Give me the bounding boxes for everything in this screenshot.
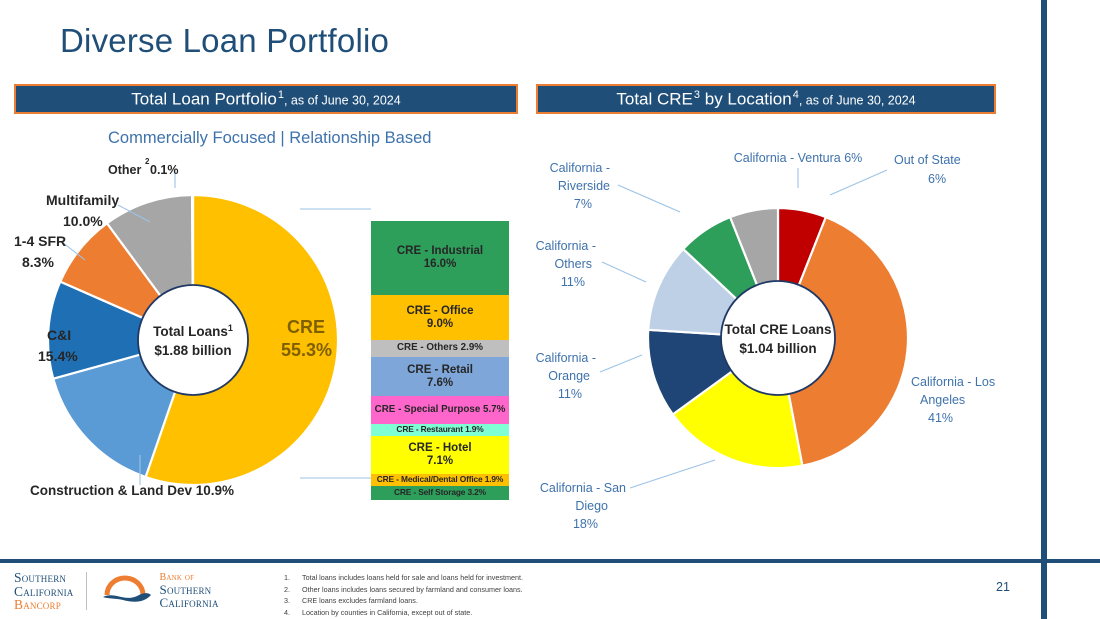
cre-legend-label: CRE - Office bbox=[406, 305, 473, 318]
label-ci-value: 15.4% bbox=[38, 348, 78, 364]
leader-out-of-state bbox=[830, 170, 887, 195]
scb-line3: Bancorp bbox=[14, 598, 74, 612]
leader-riverside bbox=[618, 185, 680, 212]
cre-legend-item[interactable]: CRE - Self Storage 3.2% bbox=[371, 486, 509, 500]
cre-legend-value: 9.0% bbox=[427, 318, 453, 331]
label-cre-value: 55.3% bbox=[281, 340, 332, 360]
footnote-row: 1.Total loans includes loans held for sa… bbox=[284, 572, 714, 584]
label-1-4-sfr-value: 8.3% bbox=[22, 254, 54, 270]
cre-legend-item[interactable]: CRE - Hotel7.1% bbox=[371, 436, 509, 474]
cre-legend-item[interactable]: CRE - Industrial16.0% bbox=[371, 221, 509, 295]
left-chart-subtitle: Commercially Focused | Relationship Base… bbox=[108, 129, 431, 148]
leader-others bbox=[602, 262, 646, 282]
label-out-of-state: Out of State bbox=[894, 153, 961, 167]
scb-line1: Southern bbox=[14, 571, 74, 585]
cre-legend-item[interactable]: CRE - Special Purpose 5.7% bbox=[371, 396, 509, 424]
page-number: 21 bbox=[996, 580, 1010, 594]
label-orange: California - bbox=[536, 351, 596, 365]
footnote-text: Other loans includes loans secured by fa… bbox=[302, 584, 523, 596]
cre-legend-label: CRE - Special Purpose 5.7% bbox=[375, 405, 506, 416]
label-san-diego: California - San bbox=[540, 481, 626, 495]
page-title: Diverse Loan Portfolio bbox=[60, 22, 389, 60]
label-riverside-2: Riverside bbox=[558, 179, 610, 193]
label-construction: Construction & Land Dev 10.9% bbox=[30, 483, 234, 498]
banner-total-loan-portfolio: Total Loan Portfolio1, as of June 30, 20… bbox=[14, 84, 518, 114]
cre-legend-label: CRE - Restaurant 1.9% bbox=[396, 425, 483, 434]
logo-group: Southern California Bancorp Bank of Sout… bbox=[14, 571, 219, 612]
cre-legend-value: 16.0% bbox=[424, 258, 457, 271]
wave-mark-icon bbox=[99, 571, 155, 611]
bank-of-southern-california-logo: Bank of Southern California bbox=[99, 571, 219, 611]
cre-legend-item[interactable]: CRE - Others 2.9% bbox=[371, 340, 509, 357]
footnote-row: 4.Location by counties in California, ex… bbox=[284, 607, 714, 619]
chart-cre-by-location: California - Ventura 6% Out of State 6% … bbox=[530, 140, 1000, 540]
label-riverside: California - bbox=[550, 161, 610, 175]
cre-legend-label: CRE - Others 2.9% bbox=[397, 343, 483, 354]
cre-legend-item[interactable]: CRE - Retail7.6% bbox=[371, 357, 509, 396]
label-others-value: 11% bbox=[561, 275, 585, 289]
cre-legend-value: 7.1% bbox=[427, 455, 453, 468]
label-other: Other bbox=[108, 163, 141, 177]
label-ci: C&I bbox=[47, 327, 71, 343]
label-los-angeles-2: Angeles bbox=[920, 393, 965, 407]
right-center-line1: Total CRE Loans bbox=[724, 322, 831, 337]
right-vertical-rule bbox=[1041, 0, 1047, 619]
left-center-line2: $1.88 billion bbox=[154, 343, 231, 358]
slide-footer: Southern California Bancorp Bank of Sout… bbox=[0, 563, 1100, 619]
footnote-number: 1. bbox=[284, 572, 302, 584]
footnotes-list: 1.Total loans includes loans held for sa… bbox=[284, 572, 714, 619]
leader-san-diego bbox=[630, 460, 715, 488]
right-center-line2: $1.04 billion bbox=[739, 341, 816, 356]
footnote-text: CRE loans excludes farmland loans. bbox=[302, 595, 418, 607]
cre-legend-item[interactable]: CRE - Office9.0% bbox=[371, 295, 509, 340]
banner-right-title-b: by Location bbox=[700, 89, 792, 108]
label-others-2: Others bbox=[554, 257, 592, 271]
southern-california-bancorp-logo: Southern California Bancorp bbox=[14, 571, 74, 612]
label-san-diego-value: 18% bbox=[573, 517, 598, 531]
right-donut-hole bbox=[721, 281, 835, 395]
left-center-line1: Total Loans1 bbox=[153, 323, 233, 339]
cre-legend-label: CRE - Self Storage 3.2% bbox=[394, 488, 486, 497]
label-riverside-value: 7% bbox=[574, 197, 592, 211]
slide-canvas: Diverse Loan Portfolio Total Loan Portfo… bbox=[0, 0, 1100, 619]
label-san-diego-2: Diego bbox=[575, 499, 608, 513]
label-orange-value: 11% bbox=[558, 387, 582, 401]
label-out-of-state-value: 6% bbox=[928, 172, 946, 186]
footnote-text: Total loans includes loans held for sale… bbox=[302, 572, 523, 584]
footnote-number: 4. bbox=[284, 607, 302, 619]
cre-legend-label: CRE - Retail bbox=[407, 364, 473, 377]
cre-legend-label: CRE - Hotel bbox=[408, 442, 471, 455]
label-others: California - bbox=[536, 239, 596, 253]
label-los-angeles: California - Los bbox=[911, 375, 995, 389]
label-orange-2: Orange bbox=[548, 369, 590, 383]
footnote-text: Location by counties in California, exce… bbox=[302, 607, 472, 619]
cre-legend-item[interactable]: CRE - Restaurant 1.9% bbox=[371, 424, 509, 436]
label-multifamily-value: 10.0% bbox=[63, 213, 103, 229]
label-multifamily: Multifamily bbox=[46, 192, 119, 208]
cre-composition-legend: CRE - Industrial16.0%CRE - Office9.0%CRE… bbox=[371, 221, 509, 500]
banner-total-cre-by-location: Total CRE3 by Location4, as of June 30, … bbox=[536, 84, 996, 114]
label-other-value: 0.1% bbox=[150, 163, 179, 177]
cre-legend-label: CRE - Medical/Dental Office 1.9% bbox=[377, 475, 503, 484]
logo-divider bbox=[86, 572, 87, 610]
label-los-angeles-value: 41% bbox=[928, 411, 953, 425]
banner-right-title-a: Total CRE bbox=[616, 89, 693, 108]
footnote-row: 3.CRE loans excludes farmland loans. bbox=[284, 595, 714, 607]
label-cre: CRE bbox=[287, 317, 325, 337]
banner-left-date: , as of June 30, 2024 bbox=[284, 93, 401, 107]
label-ventura: California - Ventura 6% bbox=[734, 151, 863, 165]
footnote-number: 3. bbox=[284, 595, 302, 607]
scb-line2: California bbox=[14, 585, 74, 599]
left-donut-hole bbox=[138, 285, 248, 395]
footnote-number: 2. bbox=[284, 584, 302, 596]
label-1-4-sfr: 1-4 SFR bbox=[14, 233, 66, 249]
bsc-line3: California bbox=[160, 596, 219, 609]
leader-orange bbox=[600, 355, 642, 372]
cre-legend-value: 7.6% bbox=[427, 377, 453, 390]
banner-right-date: , as of June 30, 2024 bbox=[799, 93, 916, 107]
cre-legend-item[interactable]: CRE - Medical/Dental Office 1.9% bbox=[371, 474, 509, 486]
bsc-wordmark: Bank of Southern California bbox=[160, 573, 219, 609]
banner-left-title: Total Loan Portfolio bbox=[131, 89, 277, 108]
cre-legend-label: CRE - Industrial bbox=[397, 245, 483, 258]
footnote-row: 2.Other loans includes loans secured by … bbox=[284, 584, 714, 596]
